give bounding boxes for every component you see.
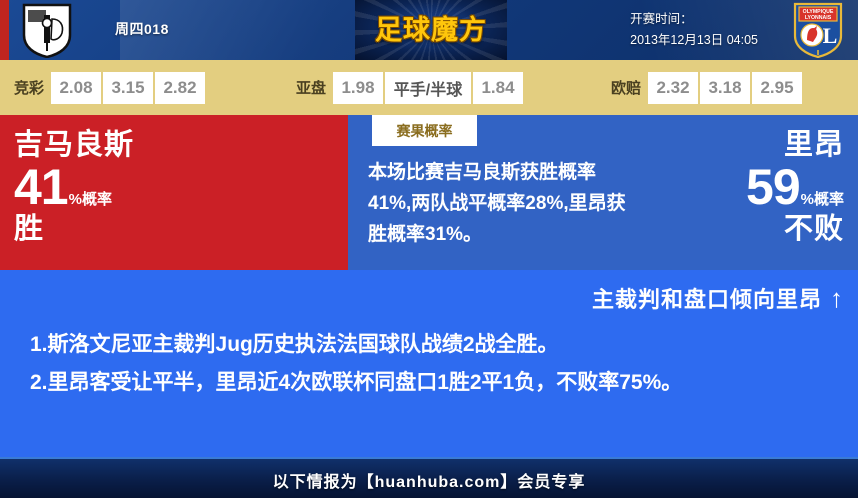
svg-text:LYONNAIS: LYONNAIS <box>805 15 832 21</box>
odds-bar: 竞彩 2.08 3.15 2.82 亚盘 1.98 平手/半球 1.84 欧赔 … <box>0 60 858 115</box>
kickoff-time: 开赛时间： 2013年12月13日 04:05 <box>630 9 758 51</box>
analysis-heading: 主裁判和盘口倾向里昂 ↑ <box>592 282 844 314</box>
analysis-heading-text: 主裁判和盘口倾向里昂 <box>592 282 822 314</box>
odds-value-away[interactable]: 2.82 <box>155 72 205 104</box>
handicap-value-away[interactable]: 1.84 <box>473 72 523 104</box>
home-outcome-label: 胜 <box>14 215 134 244</box>
analysis-item: 1.斯洛文尼亚主裁判Jug历史执法法国球队战绩2战全胜。 <box>30 326 834 364</box>
euro-odds-away[interactable]: 2.95 <box>752 72 802 104</box>
home-team-probability: 吉马良斯 41%概率 胜 <box>14 131 134 244</box>
probability-summary-text: 本场比赛吉马良斯获胜概率41%,两队战平概率28%,里昂获胜概率31%。 <box>368 157 636 250</box>
brand-logo-text: 足球魔方 <box>355 0 507 60</box>
footer-bar: 以下情报为【huanhuba.com】会员专享 <box>0 457 858 498</box>
olympique-lyonnais-crest: OLYMPIQUE LYONNAIS L <box>792 2 844 58</box>
analysis-section: 主裁判和盘口倾向里昂 ↑ 1.斯洛文尼亚主裁判Jug历史执法法国球队战绩2战全胜… <box>0 270 858 457</box>
away-percent-suffix: %概率 <box>801 191 844 208</box>
analysis-list: 1.斯洛文尼亚主裁判Jug历史执法法国球队战绩2战全胜。 2.里昂客受让平半，里… <box>30 326 834 402</box>
match-round-label: 周四018 <box>115 19 169 39</box>
home-percent-suffix: %概率 <box>69 191 112 208</box>
header-bar: 周四018 足球魔方 开赛时间： 2013年12月13日 04:05 OLYMP… <box>0 0 858 60</box>
odds-group-european: 欧赔 2.32 3.18 2.95 <box>611 72 804 104</box>
away-percent-value: 59 <box>746 159 800 215</box>
footer-membership-note: 以下情报为【huanhuba.com】会员专享 <box>273 468 586 492</box>
away-team-probability: 里昂 59%概率 不败 <box>746 131 844 244</box>
kickoff-label: 开赛时间： <box>630 9 758 30</box>
odds-group-asian-handicap: 亚盘 1.98 平手/半球 1.84 <box>296 72 525 104</box>
home-percent-value: 41 <box>14 159 68 215</box>
euro-odds-draw[interactable]: 3.18 <box>700 72 750 104</box>
probability-section: 赛果概率 吉马良斯 41%概率 胜 本场比赛吉马良斯获胜概率41%,两队战平概率… <box>0 115 858 270</box>
arrow-up-icon: ↑ <box>830 285 844 311</box>
away-team-name: 里昂 <box>746 131 844 160</box>
header-red-stripe <box>0 0 9 60</box>
handicap-line[interactable]: 平手/半球 <box>385 72 471 104</box>
tab-result-probability[interactable]: 赛果概率 <box>372 115 477 146</box>
odds-group-title: 亚盘 <box>296 77 326 98</box>
odds-value-home[interactable]: 2.08 <box>51 72 101 104</box>
handicap-value-home[interactable]: 1.98 <box>333 72 383 104</box>
kickoff-value: 2013年12月13日 04:05 <box>630 30 758 51</box>
vitoria-guimaraes-crest <box>22 3 72 58</box>
home-percent-line: 41%概率 <box>14 162 134 212</box>
euro-odds-home[interactable]: 2.32 <box>648 72 698 104</box>
odds-group-jingcai: 竞彩 2.08 3.15 2.82 <box>14 72 207 104</box>
match-preview-card: 周四018 足球魔方 开赛时间： 2013年12月13日 04:05 OLYMP… <box>0 0 858 498</box>
svg-text:L: L <box>823 23 838 48</box>
away-percent-line: 59%概率 <box>746 162 844 212</box>
brand-logo: 足球魔方 <box>355 0 507 60</box>
odds-value-draw[interactable]: 3.15 <box>103 72 153 104</box>
home-team-name: 吉马良斯 <box>14 131 134 160</box>
odds-group-title: 竞彩 <box>14 77 44 98</box>
analysis-item: 2.里昂客受让平半，里昂近4次欧联杯同盘口1胜2平1负，不败率75%。 <box>30 364 834 402</box>
odds-group-title: 欧赔 <box>611 77 641 98</box>
away-outcome-label: 不败 <box>746 215 844 244</box>
